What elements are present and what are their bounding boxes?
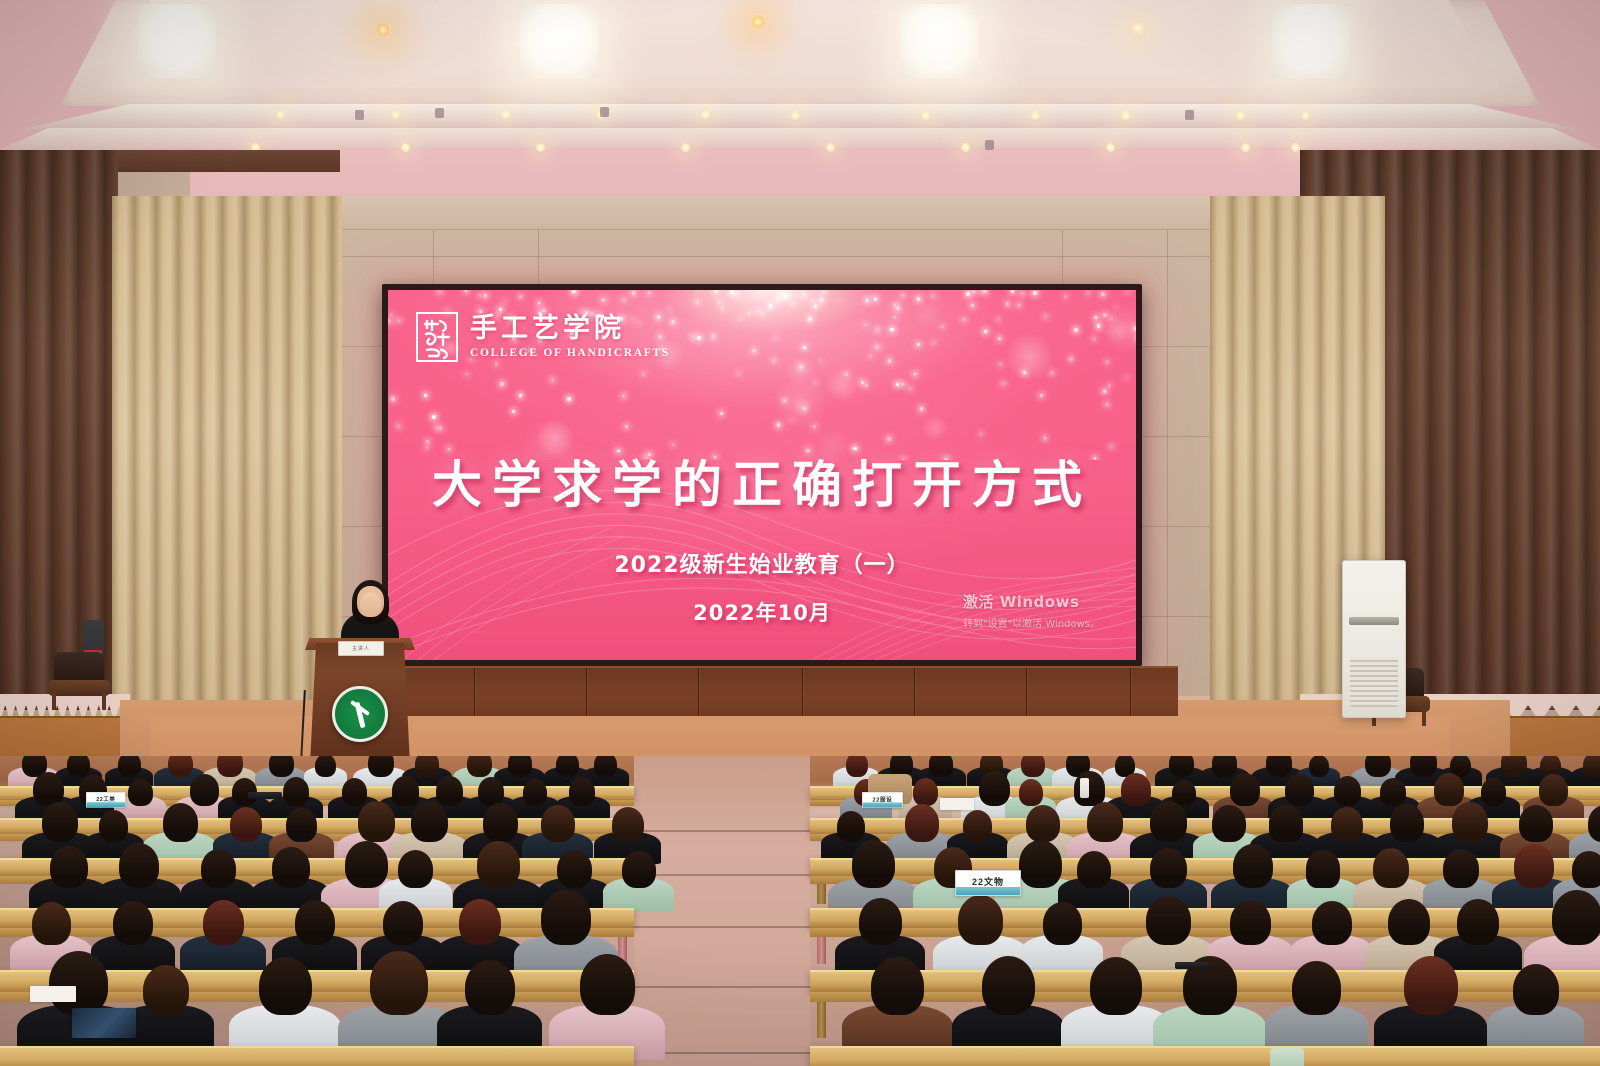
desk-object-paper	[940, 798, 974, 810]
audience-member-head	[1380, 778, 1406, 806]
audience-member-head	[1043, 902, 1082, 945]
audience-member-head	[958, 895, 1003, 945]
ceiling-downlight	[390, 109, 401, 120]
audience-member-head	[1583, 756, 1600, 777]
audience-member-head	[1404, 956, 1458, 1015]
desk-object-cup	[1270, 1048, 1304, 1066]
ceiling-downlight	[1300, 110, 1311, 121]
audience-member-head	[483, 803, 518, 842]
ceiling-speaker-icon	[355, 110, 364, 120]
audience-member-head	[1390, 804, 1424, 842]
audience-member-head	[1334, 776, 1361, 806]
audience-member-head	[1074, 771, 1105, 806]
ceiling-panel-light	[520, 4, 598, 78]
audience-member-head	[846, 756, 868, 777]
audience-member-head	[1090, 957, 1142, 1015]
ceiling-downlight	[400, 142, 411, 153]
curtain-tan-left	[112, 196, 342, 768]
audience-member-head	[477, 841, 520, 888]
audience-member-head	[1539, 774, 1568, 806]
audience-member-head	[295, 900, 335, 945]
audience-member-head	[913, 778, 938, 806]
ceiling-cove-lower	[0, 128, 1600, 150]
class-desk-sign: 22服设	[862, 792, 903, 808]
audience-member-head	[1331, 807, 1363, 842]
audience-member-head	[42, 802, 78, 842]
audience-member-head	[163, 803, 198, 842]
audience-member-head	[1519, 805, 1553, 842]
audience-member-head	[1019, 840, 1062, 888]
audience-member-head	[963, 810, 992, 842]
class-desk-sign: 22文物	[955, 870, 1021, 896]
led-screen: 手工艺学院 COLLEGE OF HANDICRAFTS 大学求学的正确打开方式…	[388, 290, 1136, 660]
audience-member-head	[415, 756, 439, 777]
audience-member-head	[1443, 849, 1479, 888]
presentation-title: 大学求学的正确打开方式	[388, 445, 1136, 517]
audience-member-head	[1077, 851, 1111, 888]
audience-member-head	[201, 849, 236, 888]
ceiling-downlight	[1105, 142, 1116, 153]
ceiling-downlight	[1130, 20, 1146, 36]
audience-member-head	[118, 756, 141, 777]
ceiling-panel-light	[900, 4, 978, 78]
ceiling-downlight	[1120, 110, 1131, 121]
air-conditioner-cabinet	[1342, 560, 1406, 718]
audience-member-head	[1513, 964, 1559, 1015]
lecture-desk-row	[810, 1046, 1600, 1066]
audience-member-head	[119, 843, 159, 888]
ceiling-speaker-icon	[435, 108, 444, 118]
ceiling-downlight	[275, 109, 286, 120]
audience-member-head	[398, 850, 433, 888]
audience-member-head	[508, 756, 532, 777]
watermark-headline: 激活 Windows	[963, 591, 1100, 612]
ceiling-downlight	[500, 109, 511, 120]
audience-member-head	[837, 811, 865, 842]
audience-member-head	[478, 777, 504, 806]
audience-member-head	[1019, 779, 1043, 806]
audience-member-head	[32, 902, 71, 945]
audience-member-head	[1269, 805, 1303, 842]
audience-member-head	[1292, 961, 1341, 1015]
audience-member-head	[852, 840, 895, 888]
ceiling-downlight	[790, 110, 801, 121]
audience-member-head	[99, 810, 128, 842]
audience-member-head	[465, 960, 515, 1015]
audience-member-head	[982, 956, 1035, 1015]
audience-member-head	[1150, 801, 1187, 842]
audience-member-head	[459, 899, 501, 945]
audience-member-head	[315, 756, 336, 777]
desk-object-booklet	[72, 1008, 136, 1038]
audience-member-head	[929, 756, 953, 777]
audience-member-head	[1026, 805, 1060, 842]
desk-object-paper	[30, 986, 76, 1002]
audience-member-head	[1457, 899, 1499, 945]
audience-member-head	[230, 807, 262, 842]
ceiling-downlight	[375, 22, 391, 38]
audience-member-head	[49, 951, 108, 1015]
desk-object-bottle	[1080, 778, 1089, 798]
audience-member-head	[286, 808, 317, 842]
ceiling-downlight	[960, 142, 971, 153]
audience-member-head	[259, 957, 312, 1015]
audience-member-head	[580, 954, 635, 1015]
audience-member-head	[1212, 805, 1246, 842]
ceiling-speaker-icon	[600, 107, 609, 117]
audience-member-head	[1230, 900, 1271, 945]
audience-member-head	[272, 847, 310, 888]
ceiling-panel-light	[138, 4, 216, 78]
audience-member-head	[190, 774, 219, 806]
audience-member-head	[541, 805, 575, 842]
logo-chinese-name: 手工艺学院	[470, 315, 670, 342]
ceiling-downlight	[1235, 110, 1246, 121]
audience-member-head	[557, 850, 592, 888]
ceiling-speaker-icon	[1185, 110, 1194, 120]
audience-member-head	[1452, 802, 1488, 842]
podium-nameplate: 主讲人	[338, 641, 384, 656]
audience-member-head	[368, 756, 394, 777]
audience-member-head	[556, 756, 579, 777]
audience-member-head	[523, 779, 547, 806]
audience-member-head	[612, 807, 644, 842]
audience-member-head	[1169, 756, 1194, 777]
led-screen-frame: 手工艺学院 COLLEGE OF HANDICRAFTS 大学求学的正确打开方式…	[382, 284, 1142, 666]
audience-member-head	[33, 772, 64, 806]
ceiling-downlight	[1030, 110, 1041, 121]
windows-activation-watermark: 激活 Windows 转到"设置"以激活 Windows。	[963, 591, 1100, 630]
audience-member-head	[622, 851, 656, 888]
ceiling-downlight	[750, 14, 766, 30]
desk-object-phone	[248, 792, 282, 799]
ceiling-downlight	[825, 142, 836, 153]
audience-member-head	[1233, 844, 1273, 888]
class-desk-sign-label: 22文物	[956, 871, 1020, 888]
audience-member-head	[1365, 756, 1391, 777]
audience-member-head	[871, 957, 924, 1015]
audience-member-head	[467, 756, 492, 777]
ceiling-panel-light	[1272, 4, 1350, 78]
class-desk-sign: 22工美	[86, 792, 126, 808]
college-logo: 手工艺学院 COLLEGE OF HANDICRAFTS	[416, 312, 670, 362]
audience-member-head	[1146, 896, 1191, 945]
audience-member-head	[411, 801, 448, 842]
ceiling-speaker-icon	[985, 140, 994, 150]
ceiling-downlight	[700, 109, 711, 120]
audience-member-head	[1285, 774, 1314, 806]
auditorium-photo: 手工艺学院 COLLEGE OF HANDICRAFTS 大学求学的正确打开方式…	[0, 0, 1600, 1066]
square-seal-icon	[416, 312, 458, 362]
audience-member-head	[1514, 844, 1554, 888]
ceiling-downlight	[1240, 142, 1251, 153]
audience-member-head	[1306, 850, 1340, 888]
audience-member-head	[1087, 802, 1123, 842]
watermark-subtext: 转到"设置"以激活 Windows。	[963, 615, 1100, 630]
audience-member-head	[1552, 890, 1600, 945]
lecture-desk-row	[0, 1046, 634, 1066]
chair-left	[48, 652, 110, 710]
logo-english-name: COLLEGE OF HANDICRAFTS	[470, 348, 670, 360]
ceiling-downlight	[535, 142, 546, 153]
presentation-subtitle-1: 2022级新生始业教育（一）	[388, 547, 1136, 579]
audience-member-head	[50, 846, 88, 888]
audience-member-head	[1572, 851, 1600, 888]
school-crest-icon	[332, 686, 388, 742]
audience-member-head	[269, 756, 294, 777]
audience-member-head	[1230, 773, 1260, 806]
audience-member-head	[370, 951, 428, 1015]
audience-member-head	[1150, 848, 1187, 888]
desk-object-phone	[1175, 962, 1209, 969]
audience-member-head	[113, 901, 153, 945]
audience-member-head	[1312, 901, 1352, 945]
audience-member-head	[143, 965, 189, 1015]
audience-member-head	[905, 804, 939, 842]
audience-member-head	[128, 779, 153, 806]
audience-member-head	[541, 890, 591, 945]
speaker-face	[360, 592, 381, 617]
audience-member-head	[203, 900, 244, 945]
ceiling-downlight	[920, 110, 931, 121]
audience-member-head	[1388, 899, 1430, 945]
audience-member-head	[1373, 848, 1409, 888]
audience-member-head	[283, 777, 309, 806]
audience-member-head	[594, 756, 617, 777]
audience-member-head	[383, 901, 423, 945]
audience-member-head	[569, 777, 595, 806]
audience-member-head	[859, 898, 902, 945]
ceiling-downlight	[680, 142, 691, 153]
